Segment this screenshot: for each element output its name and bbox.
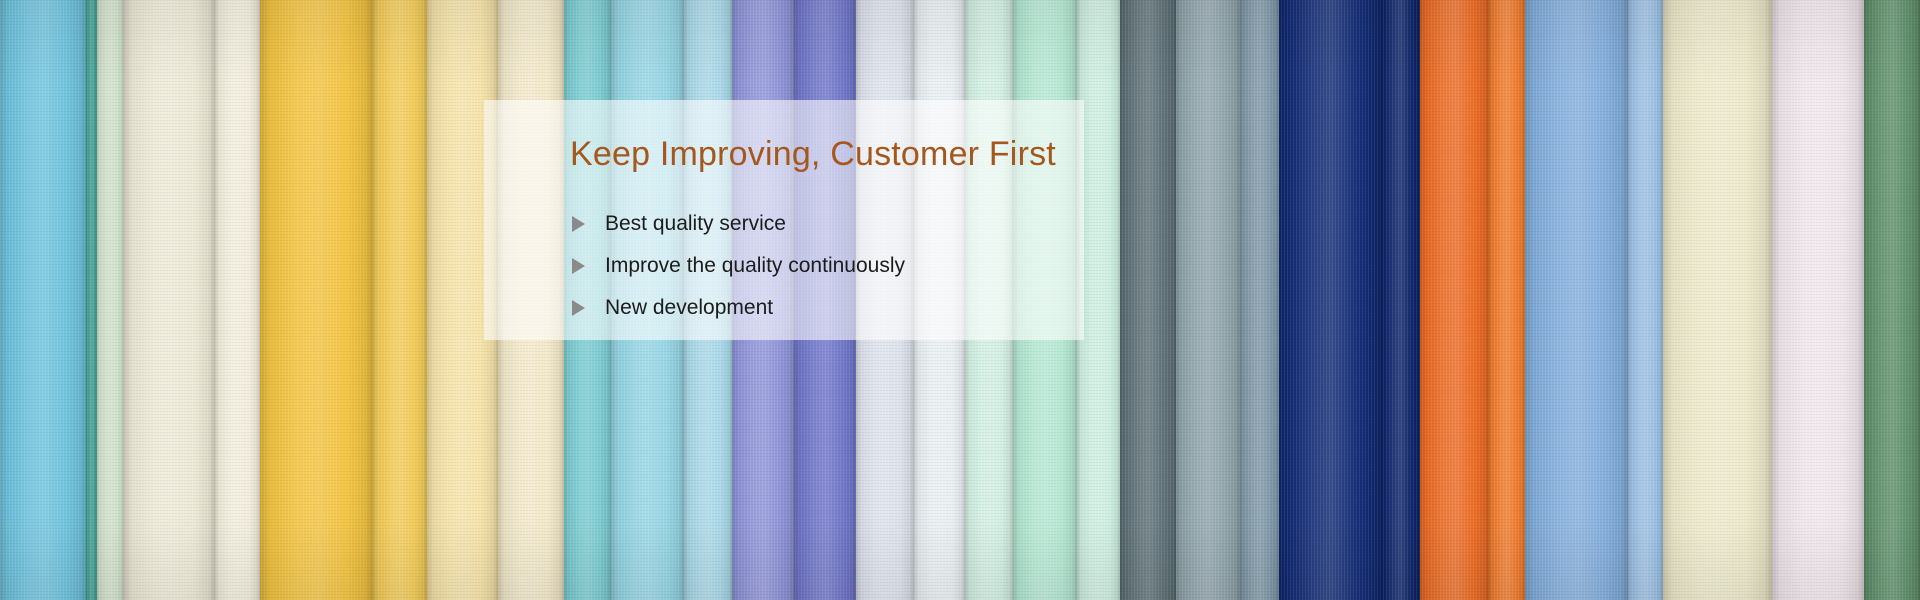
list-item: Improve the quality continuously bbox=[572, 245, 1084, 287]
fabric-stripe-light-slate bbox=[1176, 0, 1240, 600]
fabric-stripe-sage-green bbox=[1864, 0, 1920, 600]
fabric-stripe-teal-edge bbox=[86, 0, 97, 600]
fabric-stripe-ivory-cream bbox=[124, 0, 216, 600]
fabric-stripe-pale-sage bbox=[97, 0, 123, 600]
triangle-right-icon bbox=[572, 258, 585, 274]
message-panel: Keep Improving, Customer First Best qual… bbox=[484, 100, 1084, 340]
fabric-stripe-deep-navy bbox=[1380, 0, 1419, 600]
fabric-stripe-sky-blue bbox=[0, 0, 86, 600]
fabric-stripe-golden-yellow bbox=[260, 0, 372, 600]
fabric-stripe-steel-blue-gray bbox=[1240, 0, 1279, 600]
fabric-stripe-orange bbox=[1420, 0, 1489, 600]
fabric-stripe-pale-pink-white bbox=[1772, 0, 1864, 600]
feature-list: Best quality serviceImprove the quality … bbox=[484, 203, 1084, 329]
triangle-right-icon bbox=[572, 300, 585, 316]
list-item: Best quality service bbox=[572, 203, 1084, 245]
fabric-stripe-ivory bbox=[1663, 0, 1772, 600]
fabric-stripe-bright-orange bbox=[1489, 0, 1525, 600]
promo-banner: Keep Improving, Customer First Best qual… bbox=[0, 0, 1920, 600]
triangle-right-icon bbox=[572, 216, 585, 232]
fabric-stripe-cornflower-blue bbox=[1525, 0, 1628, 600]
fabric-stripe-pale-blue bbox=[1628, 0, 1664, 600]
fabric-stripe-slate-gray bbox=[1120, 0, 1176, 600]
list-item-label: Improve the quality continuously bbox=[605, 254, 905, 278]
list-item-label: Best quality service bbox=[605, 212, 786, 236]
list-item-label: New development bbox=[605, 296, 773, 320]
list-item: New development bbox=[572, 287, 1084, 329]
fabric-stripe-navy-blue bbox=[1279, 0, 1380, 600]
fabric-stripe-warm-gold bbox=[373, 0, 427, 600]
fabric-stripe-light-cream bbox=[215, 0, 260, 600]
page-title: Keep Improving, Customer First bbox=[484, 136, 1084, 173]
